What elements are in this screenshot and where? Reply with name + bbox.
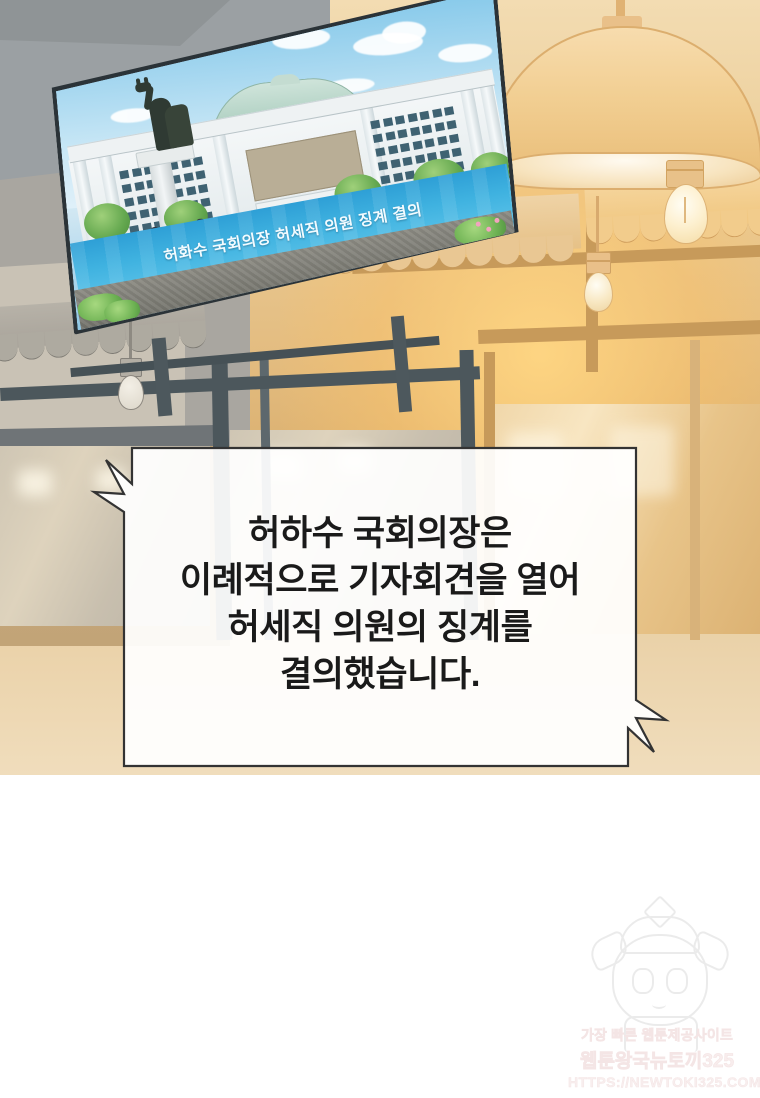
light-bulb	[664, 184, 708, 244]
tv-screen: 허화수 국회의장 허세직 의원 징계 결의	[50, 0, 520, 330]
cloud	[87, 49, 123, 72]
lamp-cord	[596, 196, 599, 254]
wall-mounted-tv[interactable]: 허화수 국회의장 허세직 의원 징계 결의	[46, 0, 544, 355]
narration-text: 허하수 국회의장은 이례적으로 기자회견을 열어 허세직 의원의 징계를 결의했…	[88, 510, 672, 698]
narration-line: 결의했습니다.	[88, 651, 672, 698]
mascot-icon	[588, 912, 728, 1042]
watermark-line-1: 가장 빠른 웹툰제공사이트	[568, 1025, 746, 1045]
watermark-line-2: 웹툰왕국뉴토끼325	[568, 1046, 746, 1073]
webtoon-panel: 허화수 국회의장 허세직 의원 징계 결의 허하수 국회의장은 이례적으로 기자…	[0, 0, 760, 1098]
lamp-socket	[586, 252, 611, 274]
narration-line: 이례적으로 기자회견을 열어	[88, 557, 672, 604]
pendant-lamp-large	[498, 0, 748, 240]
window-mullion-vertical	[690, 340, 700, 640]
narration-line: 허하수 국회의장은	[88, 510, 672, 557]
watermark-text: 가장 빠른 웹툰제공사이트 웹툰왕국뉴토끼325 HTTPS://NEWTOKI…	[568, 1025, 746, 1090]
bulb-filament	[684, 197, 686, 223]
narration-speech-bubble: 허하수 국회의장은 이례적으로 기자회견을 열어 허세직 의원의 징계를 결의했…	[88, 436, 672, 778]
site-watermark: 가장 빠른 웹툰제공사이트 웹툰왕국뉴토끼325 HTTPS://NEWTOKI…	[568, 912, 746, 1092]
narration-line: 허세직 의원의 징계를	[88, 604, 672, 651]
pendant-lamp-small	[578, 196, 618, 326]
light-reflection	[18, 470, 52, 496]
light-bulb	[118, 375, 144, 410]
light-bulb	[584, 272, 613, 312]
watermark-line-3: HTTPS://NEWTOKI325.COM	[568, 1074, 746, 1090]
cloud	[175, 23, 217, 49]
monument-statue	[123, 75, 201, 158]
